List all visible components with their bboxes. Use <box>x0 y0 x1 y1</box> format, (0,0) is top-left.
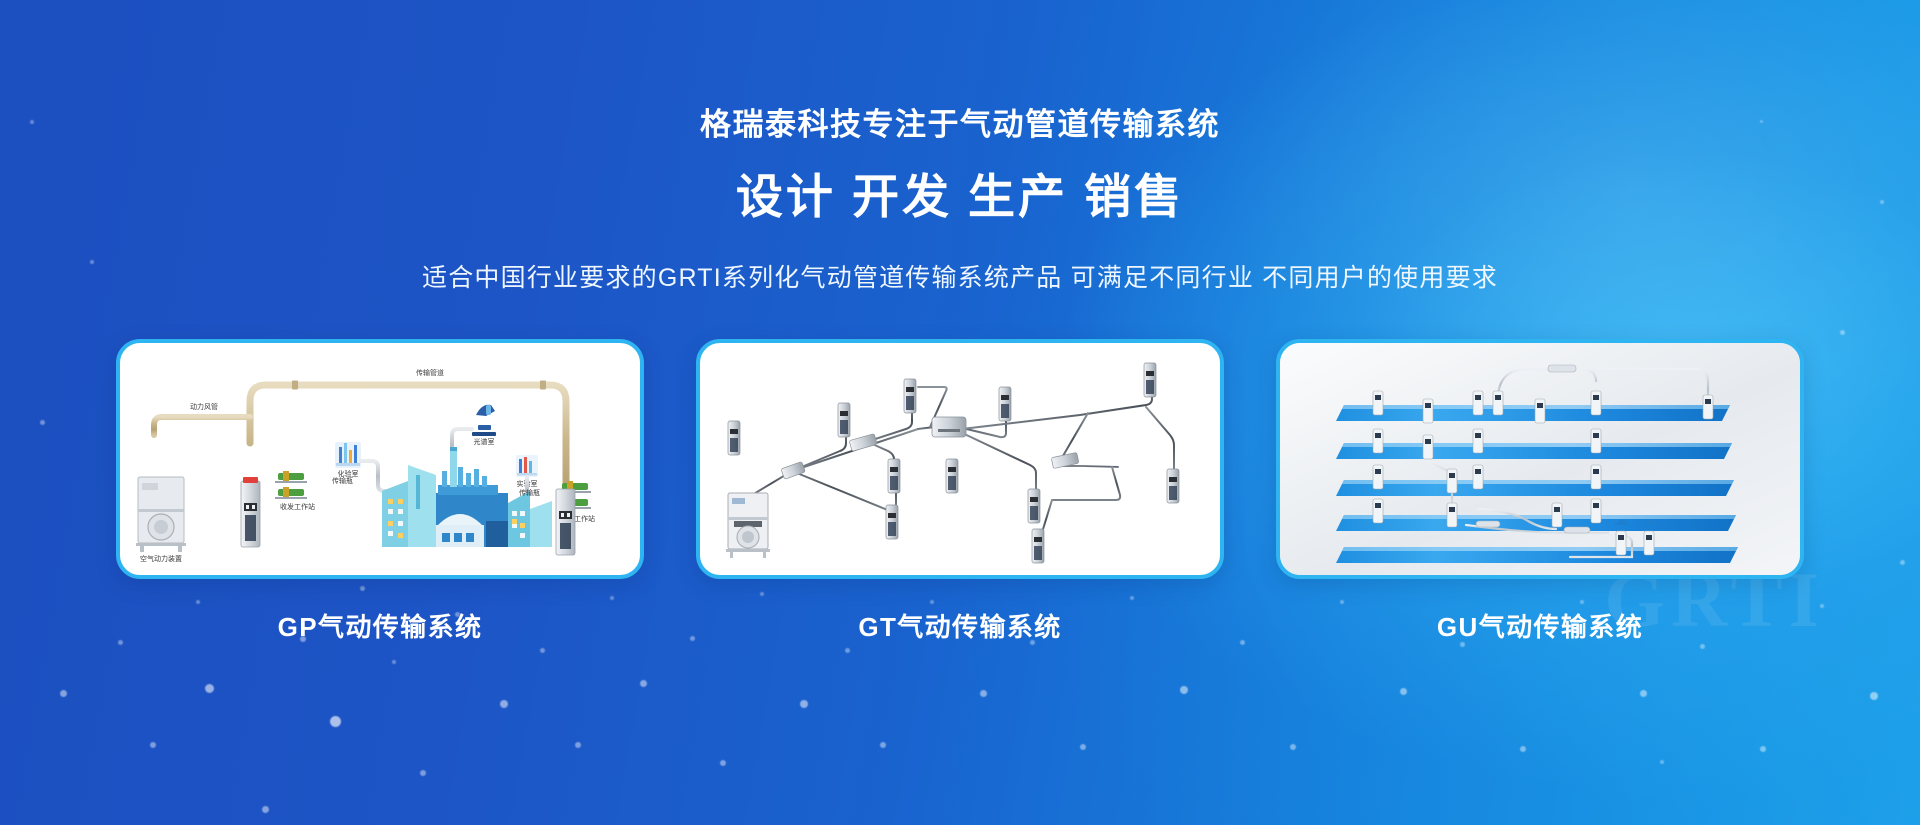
headline-group: 格瑞泰科技专注于气动管道传输系统 设计 开发 生产 销售 适合中国行业要求的GR… <box>0 0 1920 293</box>
bokeh-dot <box>980 690 987 697</box>
label-power-duct: 动力风管 <box>190 402 218 411</box>
experiment-lab-icon <box>516 455 538 477</box>
bokeh-dot <box>800 700 808 708</box>
bokeh-dot <box>640 680 647 687</box>
station-screen <box>730 371 1177 542</box>
bokeh-dot <box>880 742 886 748</box>
bokeh-dot <box>540 648 545 653</box>
bokeh-dot <box>392 660 396 664</box>
label-carrier-right: 传输瓶 <box>519 488 540 497</box>
label-transport-pipe: 传输管道 <box>416 368 444 377</box>
product-card-gu[interactable]: GU气动传输系统 <box>1276 339 1804 644</box>
bokeh-dot <box>1400 688 1407 695</box>
bokeh-dot <box>575 742 581 748</box>
gp-system-diagram: 传输管道 动力风管 空气动力装置 <box>120 343 640 575</box>
bokeh-dot <box>150 742 156 748</box>
product-image-frame-gp: 传输管道 动力风管 空气动力装置 <box>116 339 644 579</box>
bokeh-dot <box>1840 330 1845 335</box>
bokeh-dot <box>1290 744 1296 750</box>
bokeh-dot <box>1700 644 1705 649</box>
headline-secondary: 设计 开发 生产 销售 <box>0 171 1920 223</box>
label-air-power-unit: 空气动力装置 <box>140 554 182 563</box>
product-image-frame-gu <box>1276 339 1804 579</box>
spectrum-lab-icon <box>472 404 496 435</box>
label-spectrum-lab: 光谱室 <box>474 437 495 446</box>
bokeh-dot <box>845 648 850 653</box>
bokeh-dot <box>262 806 269 813</box>
carrier-left-icon <box>275 471 307 499</box>
bokeh-dot <box>1640 690 1647 697</box>
product-card-caption-gt: GT气动传输系统 <box>696 607 1224 644</box>
product-card-gp[interactable]: 传输管道 动力风管 空气动力装置 <box>116 339 644 644</box>
bokeh-dot <box>330 716 341 727</box>
air-power-unit-icon <box>136 477 186 552</box>
bokeh-dot <box>1870 692 1878 700</box>
bokeh-dot <box>60 690 67 697</box>
diverter-icon <box>1564 527 1590 533</box>
bokeh-dot <box>420 770 426 776</box>
bokeh-dot <box>1760 746 1766 752</box>
station-right-icon <box>556 489 575 555</box>
diverter-icon <box>1548 365 1576 372</box>
label-station-left: 收发工作站 <box>280 502 315 511</box>
label-chemical-lab: 化验室 <box>338 469 359 478</box>
bokeh-dot <box>205 684 214 693</box>
bokeh-dot <box>1080 744 1086 750</box>
station-left-icon <box>241 477 260 547</box>
chemical-lab-icon <box>335 442 361 468</box>
product-image-frame-gt <box>696 339 1224 579</box>
product-card-caption-gp: GP气动传输系统 <box>116 607 644 644</box>
bokeh-dot <box>500 700 508 708</box>
bokeh-dot <box>720 760 726 766</box>
bokeh-dot <box>1660 760 1664 764</box>
bokeh-dot <box>1180 686 1188 694</box>
product-card-caption-gu: GU气动传输系统 <box>1276 607 1804 644</box>
station-icon <box>728 363 1179 563</box>
product-card-row: 传输管道 动力风管 空气动力装置 <box>0 339 1920 644</box>
headline-subtitle: 适合中国行业要求的GRTI系列化气动管道传输系统产品 可满足不同行业 不同用户的… <box>0 263 1920 293</box>
gu-building-diagram <box>1280 343 1800 575</box>
product-card-gt[interactable]: GT气动传输系统 <box>696 339 1224 644</box>
blower-unit-icon <box>726 493 770 558</box>
headline-primary: 格瑞泰科技专注于气动管道传输系统 <box>0 108 1920 142</box>
diverter-icon <box>1476 521 1500 527</box>
bokeh-dot <box>1520 746 1526 752</box>
hero-banner: GRTI 格瑞泰科技专注于气动管道传输系统 设计 开发 生产 销售 适合中国行业… <box>0 0 1920 825</box>
gt-network-diagram <box>700 343 1220 575</box>
